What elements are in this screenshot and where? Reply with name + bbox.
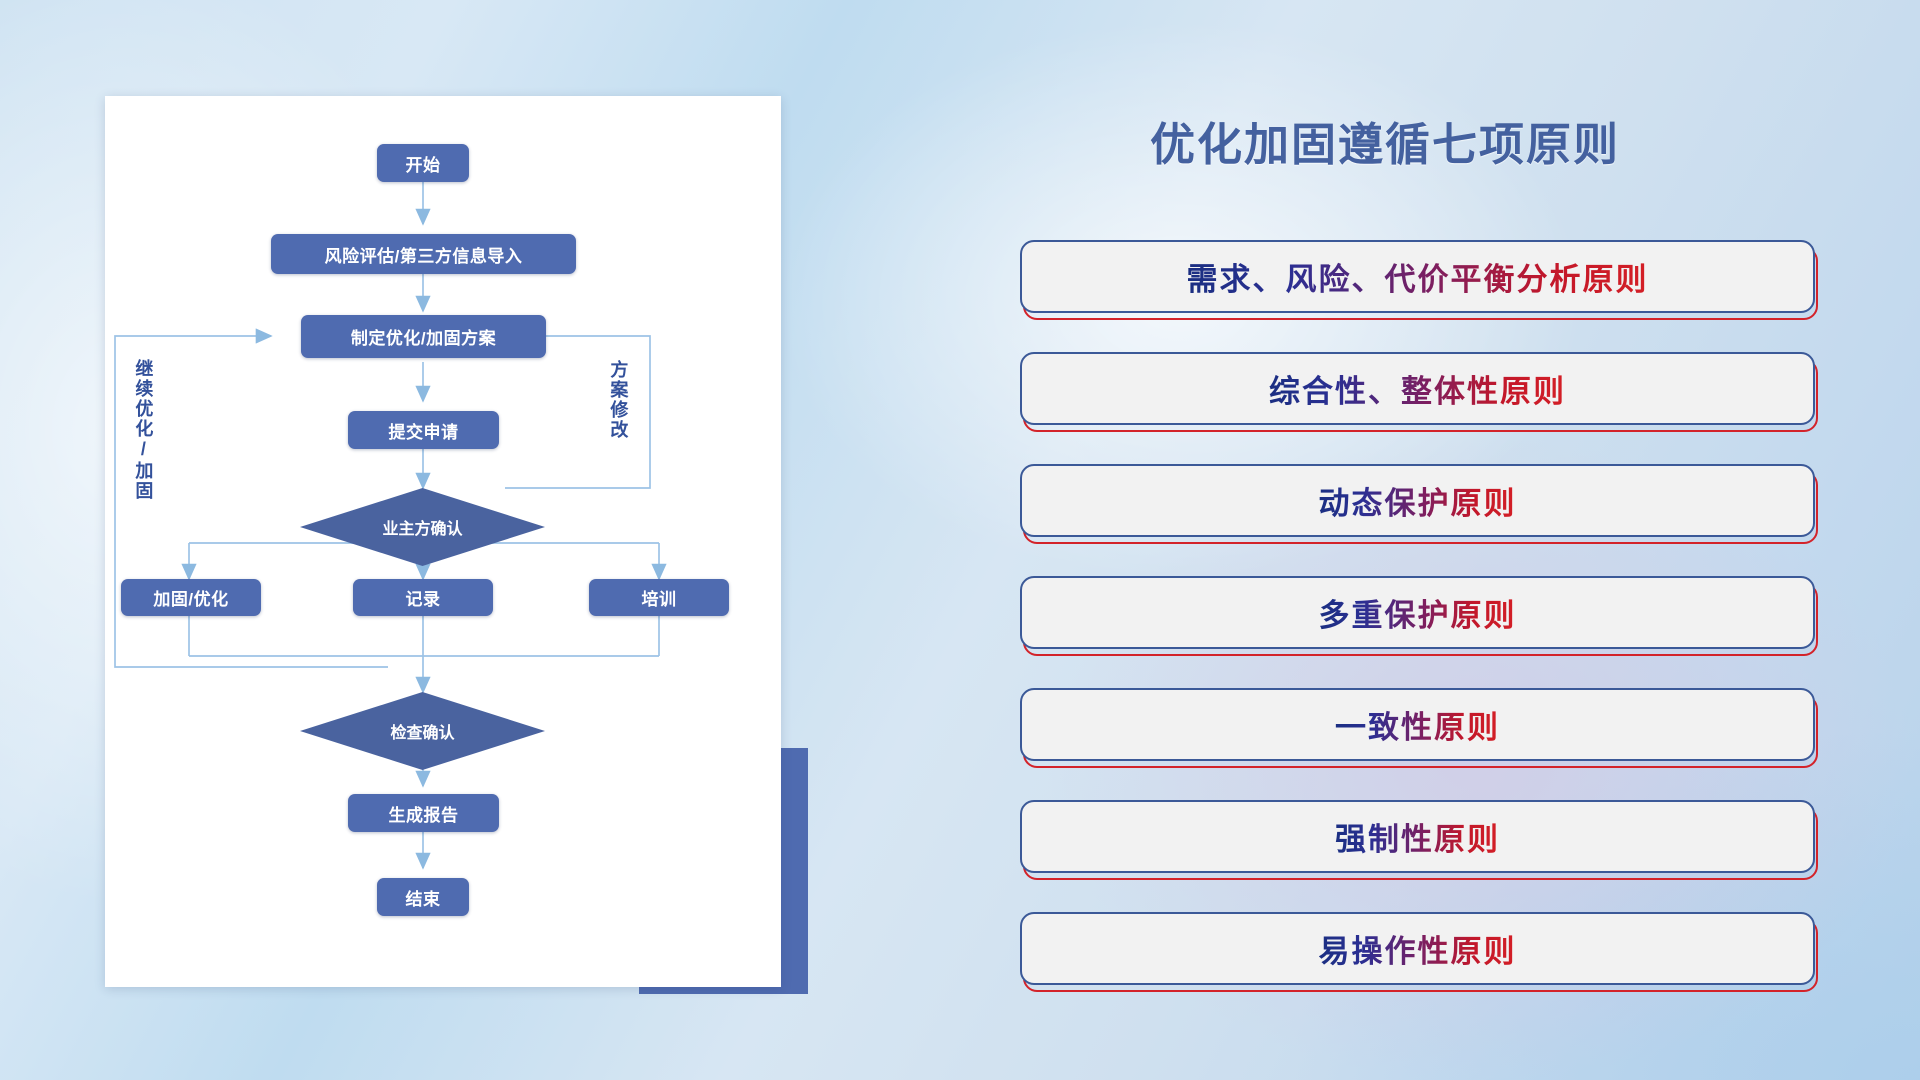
principle-card-body[interactable]: 一致性原则 (1020, 688, 1815, 761)
flow-node-label: 结束 (406, 885, 441, 910)
flow-node-start[interactable]: 开始 (377, 144, 469, 182)
principle-label: 强制性原则 (1335, 814, 1500, 859)
flow-edge-label-continue-optimize: 继续优化/加固 (134, 359, 152, 529)
principle-card-body[interactable]: 需求、风险、代价平衡分析原则 (1020, 240, 1815, 313)
panel-title: 优化加固遵循七项原则 (1150, 108, 1620, 173)
flow-node-record[interactable]: 记录 (353, 579, 493, 616)
flow-node-label: 加固/优化 (153, 585, 228, 610)
principle-card[interactable]: 需求、风险、代价平衡分析原则 (1020, 240, 1820, 320)
principle-card-body[interactable]: 综合性、整体性原则 (1020, 352, 1815, 425)
flow-node-label: 记录 (406, 585, 441, 610)
principle-label: 多重保护原则 (1319, 590, 1517, 635)
flow-node-generate-report[interactable]: 生成报告 (348, 794, 499, 832)
flow-node-label: 开始 (406, 151, 441, 176)
flow-decision-inspection-confirm[interactable]: 检查确认 (300, 692, 545, 770)
flow-node-label: 业主方确认 (382, 515, 462, 539)
principle-card[interactable]: 强制性原则 (1020, 800, 1820, 880)
flow-node-risk-assessment[interactable]: 风险评估/第三方信息导入 (271, 234, 576, 274)
flowchart-card: 开始 风险评估/第三方信息导入 制定优化/加固方案 提交申请 业主方确认 加固/… (105, 96, 781, 987)
flow-node-label: 提交申请 (389, 418, 459, 443)
principle-card[interactable]: 综合性、整体性原则 (1020, 352, 1820, 432)
principles-panel: 优化加固遵循七项原则 需求、风险、代价平衡分析原则 综合性、整体性原则 动态保护… (1020, 90, 1830, 1010)
slide-root: 开始 风险评估/第三方信息导入 制定优化/加固方案 提交申请 业主方确认 加固/… (0, 0, 1920, 1080)
flow-node-label: 培训 (642, 585, 677, 610)
principle-card-body[interactable]: 易操作性原则 (1020, 912, 1815, 985)
principle-label: 动态保护原则 (1319, 478, 1517, 523)
principle-card-body[interactable]: 强制性原则 (1020, 800, 1815, 873)
flow-edge-label-plan-revision: 方案修改 (609, 360, 627, 480)
principle-card[interactable]: 动态保护原则 (1020, 464, 1820, 544)
flow-node-label: 生成报告 (389, 801, 459, 826)
flow-node-submit-application[interactable]: 提交申请 (348, 411, 499, 449)
principle-label: 综合性、整体性原则 (1269, 366, 1566, 411)
flow-node-label: 制定优化/加固方案 (351, 324, 496, 349)
principle-label: 需求、风险、代价平衡分析原则 (1187, 254, 1649, 299)
flow-node-label: 检查确认 (390, 719, 454, 743)
flow-node-end[interactable]: 结束 (377, 878, 469, 916)
flow-node-training[interactable]: 培训 (589, 579, 729, 616)
flow-node-reinforce[interactable]: 加固/优化 (121, 579, 261, 616)
principle-label: 一致性原则 (1335, 702, 1500, 747)
flow-node-label: 风险评估/第三方信息导入 (325, 242, 523, 267)
principle-card-body[interactable]: 多重保护原则 (1020, 576, 1815, 649)
flow-node-plan[interactable]: 制定优化/加固方案 (301, 315, 546, 358)
principle-card[interactable]: 多重保护原则 (1020, 576, 1820, 656)
principle-card[interactable]: 易操作性原则 (1020, 912, 1820, 992)
flow-decision-owner-confirm[interactable]: 业主方确认 (300, 488, 545, 566)
principle-card-body[interactable]: 动态保护原则 (1020, 464, 1815, 537)
principle-label: 易操作性原则 (1319, 926, 1517, 971)
principle-card[interactable]: 一致性原则 (1020, 688, 1820, 768)
